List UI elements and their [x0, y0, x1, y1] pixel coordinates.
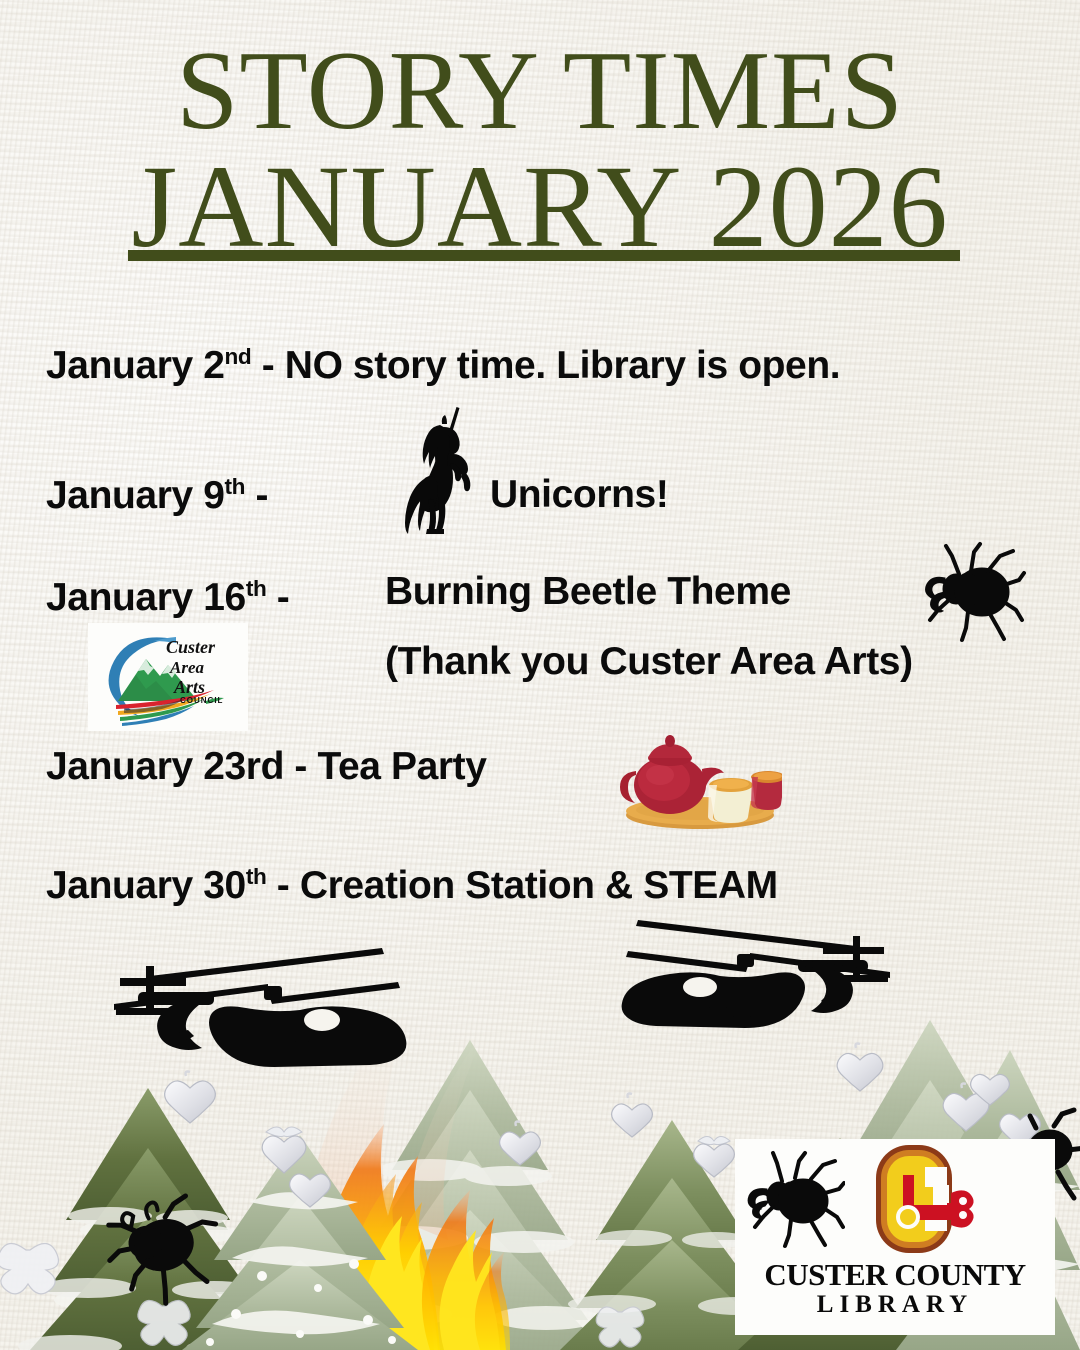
event-dash-jan-16: -: [266, 576, 289, 619]
event-item-jan-2: January 2nd - NO story time. Library is …: [46, 345, 840, 387]
event-text-jan-30: - Creation Station & STEAM: [266, 864, 777, 907]
tea-set-icon: [612, 725, 782, 830]
event-text-jan-23: - Tea Party: [284, 745, 487, 788]
title-underline-rule: [128, 250, 960, 261]
event-item-jan-23: January 23rd - Tea Party: [46, 747, 487, 788]
event-date-jan-16: January 16: [46, 576, 246, 619]
event-date-jan-30: January 30: [46, 864, 246, 907]
library-logo-marks: [735, 1139, 1055, 1259]
event-date-jan-9: January 9: [46, 474, 225, 517]
event-date-jan-23: January 23rd: [46, 745, 284, 788]
helicopter-left-silhouette: [114, 948, 406, 1067]
library-c-key-icon: [847, 1143, 982, 1255]
event-dash-jan-9: -: [245, 474, 268, 517]
beetle-icon: [916, 540, 1026, 645]
library-subtitle: LIBRARY: [735, 1291, 1055, 1319]
event-item-jan-9: January 9th -: [46, 475, 268, 517]
title-line-story-times: STORY TIMES: [0, 38, 1080, 146]
custer-county-library-logo: CUSTER COUNTY LIBRARY: [735, 1139, 1055, 1335]
svg-text:COUNCIL: COUNCIL: [180, 696, 223, 705]
svg-text:Custer: Custer: [166, 637, 216, 657]
event-text-jan-2: - NO story time. Library is open.: [251, 344, 840, 387]
event-theme-jan-16: Burning Beetle Theme: [385, 572, 791, 613]
unicorn-icon: [382, 405, 502, 535]
event-item-jan-16: January 16th -: [46, 577, 289, 619]
event-ordinal-jan-9: th: [225, 474, 246, 499]
event-credit-jan-16: (Thank you Custer Area Arts): [385, 642, 913, 683]
event-ordinal-jan-2: nd: [225, 344, 252, 369]
page-title: STORY TIMES JANUARY 2026: [0, 38, 1080, 263]
poster-canvas: STORY TIMES JANUARY 2026 January 2nd - N…: [0, 0, 1080, 1350]
event-theme-jan-9: Unicorns!: [490, 475, 668, 516]
event-date-jan-2: January 2: [46, 344, 225, 387]
svg-text:Arts: Arts: [173, 677, 205, 697]
event-item-jan-30: January 30th - Creation Station & STEAM: [46, 865, 778, 907]
title-line-january-2026: JANUARY 2026: [0, 150, 1080, 263]
custer-area-arts-logo: Custer Area Arts COUNCIL: [88, 623, 248, 731]
library-name: CUSTER COUNTY: [735, 1257, 1055, 1293]
helicopter-right-silhouette: [622, 920, 890, 1028]
svg-text:Area: Area: [169, 658, 205, 677]
library-beetle-icon: [745, 1149, 845, 1249]
event-ordinal-jan-16: th: [246, 576, 267, 601]
event-ordinal-jan-30: th: [246, 864, 267, 889]
